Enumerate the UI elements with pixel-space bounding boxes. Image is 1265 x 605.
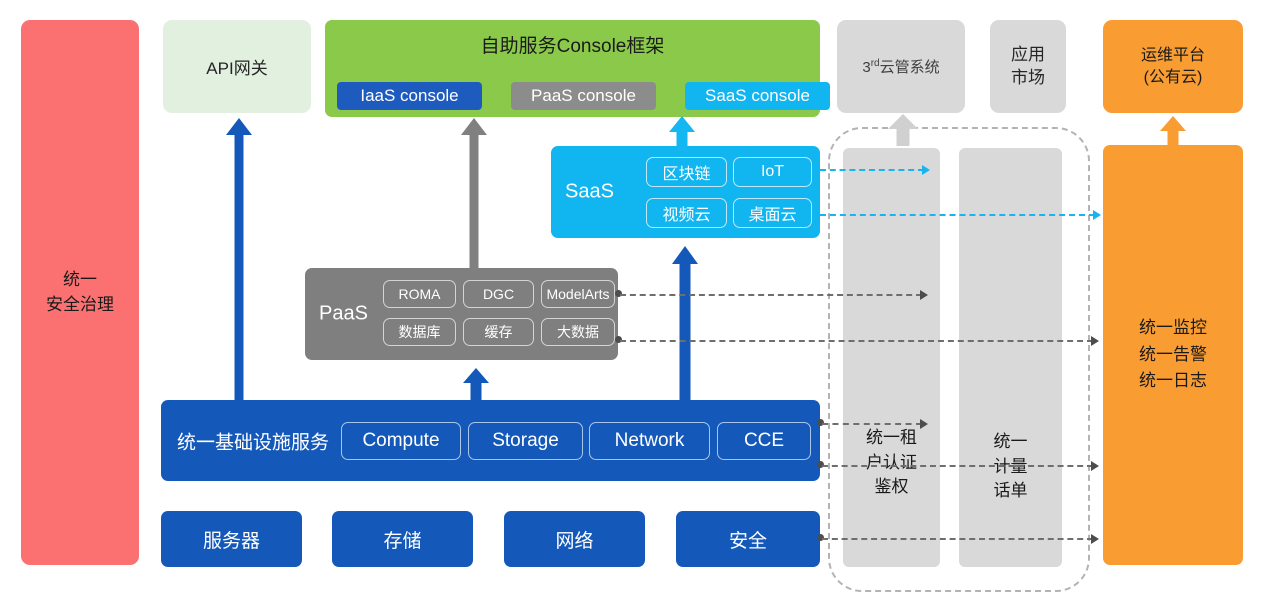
panel-hardware-security[interactable]: 安全: [676, 511, 820, 567]
panel-api-gateway[interactable]: API网关: [163, 20, 311, 113]
dashed-arrow-head-icon: [1093, 210, 1101, 220]
paas-chip-cache[interactable]: 缓存: [463, 318, 534, 346]
panel-self-service-console-frame[interactable]: 自助服务Console框架 IaaS console PaaS console …: [325, 20, 820, 117]
arrow-to-third-party-cloud: [888, 114, 918, 144]
dashed-arrow-head-icon: [1091, 336, 1099, 346]
saas-chip-blockchain[interactable]: 区块链: [646, 157, 727, 187]
panel-paas-layer[interactable]: PaaS ROMA DGC ModelArts 数据库 缓存 大数据: [305, 268, 618, 360]
architecture-diagram: 统一 安全治理 API网关 自助服务Console框架 IaaS console…: [0, 0, 1265, 605]
tenant-auth-line-1: 统一租: [843, 426, 940, 451]
arrow-infra-to-paas: [463, 368, 489, 402]
arrow-shaft: [897, 126, 910, 146]
ops-top-line-2: (公有云): [1144, 67, 1203, 89]
ops-main-line-1: 统一监控: [1139, 315, 1207, 341]
arrow-shaft: [470, 132, 479, 270]
panel-hardware-network[interactable]: 网络: [504, 511, 645, 567]
tenant-auth-line-3: 鉴权: [843, 475, 940, 500]
tenant-auth-labels: 统一租 户认证 鉴权: [843, 426, 940, 500]
arrow-shaft: [235, 132, 244, 408]
paas-label: PaaS: [319, 303, 368, 326]
arrow-shaft: [471, 381, 482, 404]
dashed-arrow-head-icon: [1091, 461, 1099, 471]
metering-line-3: 话单: [959, 479, 1062, 504]
panel-unified-metering-billing[interactable]: 统一 计量 话单: [959, 148, 1062, 567]
app-market-line-1: 应用: [1011, 44, 1045, 67]
infra-chip-compute[interactable]: Compute: [341, 422, 461, 460]
security-line-1: 统一: [63, 268, 97, 293]
arrow-infra-to-api-gateway: [226, 118, 252, 408]
saas-chip-desktop-cloud[interactable]: 桌面云: [733, 198, 812, 228]
dashed-arrow-head-icon: [1091, 534, 1099, 544]
panel-unified-monitoring-alarm-log[interactable]: 统一监控 统一告警 统一日志: [1103, 145, 1243, 565]
dashed-line-paas-to-auth: [620, 294, 922, 296]
dashed-arrow-head-icon: [922, 165, 930, 175]
arrow-shaft: [1168, 128, 1179, 150]
saas-chip-iot[interactable]: IoT: [733, 157, 812, 187]
panel-unified-security-governance[interactable]: 统一 安全治理: [21, 20, 139, 565]
arrow-saas-to-console: [669, 116, 695, 149]
dashed-line-infra-to-ops: [822, 465, 1093, 467]
api-gateway-label: API网关: [206, 54, 267, 79]
security-line-2: 安全治理: [46, 293, 114, 318]
dashed-line-paas-to-ops: [620, 340, 1093, 342]
saas-chip-video-cloud[interactable]: 视频云: [646, 198, 727, 228]
infra-chip-network[interactable]: Network: [589, 422, 710, 460]
app-market-line-2: 市场: [1011, 67, 1045, 90]
arrow-paas-to-console: [461, 118, 487, 270]
panel-third-party-cloud-management[interactable]: 3rd云管系统: [837, 20, 965, 113]
panel-unified-infrastructure-service[interactable]: 统一基础设施服务 Compute Storage Network CCE: [161, 400, 820, 481]
dashed-line-infra-to-auth: [822, 423, 922, 425]
paas-chip-bigdata[interactable]: 大数据: [541, 318, 615, 346]
paas-chip-modelarts[interactable]: ModelArts: [541, 280, 615, 308]
dashed-arrow-head-icon: [920, 419, 928, 429]
panel-unified-tenant-auth[interactable]: 统一租 户认证 鉴权: [843, 148, 940, 567]
dashed-arrow-head-icon: [920, 290, 928, 300]
third-party-cloud-label: 3rd云管系统: [862, 56, 939, 77]
console-frame-title: 自助服务Console框架: [325, 31, 820, 58]
saas-label: SaaS: [565, 181, 614, 204]
paas-chip-database[interactable]: 数据库: [383, 318, 456, 346]
tenant-auth-line-2: 户认证: [843, 451, 940, 476]
dashed-line-saas-to-ops: [820, 214, 1095, 216]
panel-ops-platform-public-cloud[interactable]: 运维平台 (公有云): [1103, 20, 1243, 113]
dashed-line-saas-to-auth: [820, 169, 924, 171]
infrastructure-label: 统一基础设施服务: [177, 427, 329, 454]
panel-hardware-server[interactable]: 服务器: [161, 511, 302, 567]
ops-main-line-3: 统一日志: [1139, 368, 1207, 394]
panel-saas-layer[interactable]: SaaS 区块链 IoT 视频云 桌面云: [551, 146, 820, 238]
arrow-to-ops-platform: [1160, 116, 1186, 148]
ops-top-line-1: 运维平台: [1141, 45, 1205, 67]
ops-main-line-2: 统一告警: [1139, 342, 1207, 368]
chip-paas-console[interactable]: PaaS console: [511, 82, 656, 110]
arrow-shaft: [680, 261, 691, 406]
arrow-shaft: [677, 129, 688, 151]
chip-iaas-console[interactable]: IaaS console: [337, 82, 482, 110]
infra-chip-cce[interactable]: CCE: [717, 422, 811, 460]
metering-line-1: 统一: [959, 430, 1062, 455]
dashed-line-hardware-to-ops: [822, 538, 1093, 540]
paas-chip-dgc[interactable]: DGC: [463, 280, 534, 308]
chip-saas-console[interactable]: SaaS console: [685, 82, 830, 110]
panel-application-market[interactable]: 应用 市场: [990, 20, 1066, 113]
arrow-infra-to-saas: [672, 246, 698, 404]
paas-chip-roma[interactable]: ROMA: [383, 280, 456, 308]
infra-chip-storage[interactable]: Storage: [468, 422, 583, 460]
panel-hardware-storage[interactable]: 存储: [332, 511, 473, 567]
